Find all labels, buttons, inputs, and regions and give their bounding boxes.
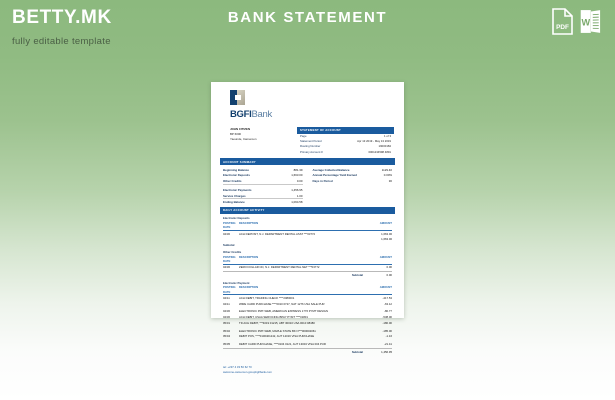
row-amount: -1.16 (368, 334, 392, 338)
row-amount: -185.00 (368, 329, 392, 333)
pdf-icon[interactable]: PDF (552, 8, 573, 35)
col-description: DESCRIPTION (239, 285, 368, 293)
daily-activity-body: Electronic Deposits POSTING DATE DESCRIP… (220, 216, 395, 354)
row-amount: 1,663.00 (368, 232, 392, 236)
statement-meta-label: Routing Number (300, 144, 320, 148)
subtotal-label: Subtotal (223, 273, 368, 277)
bank-name-light: Bank (252, 109, 272, 120)
table-row: 05/02 ELECTRONIC PMT-WEB, MAPLE STATE BK… (223, 328, 392, 334)
col-amount: AMOUNT (368, 285, 392, 293)
row-description: ELECTRONIC PMT-WEB, MAPLE STATE BK N***0… (239, 329, 368, 333)
activity-group-title: Electronic Payment (223, 281, 392, 285)
row-date: 05/04 (223, 334, 239, 338)
statement-meta-label: Statement Period (300, 139, 322, 143)
brand-subtitle: fully editable template (12, 36, 112, 47)
table-row: 05/04 DEBIT POS, ****0100401242, AUT 120… (223, 333, 392, 339)
summary-label: Days in Period (313, 179, 333, 183)
customer-line3: Yaounde, Cameroon (230, 137, 256, 142)
summary-label: Ending Balance (223, 200, 245, 204)
summary-value: 30 (389, 179, 392, 183)
statement-meta-label: Primary Account # (300, 150, 323, 154)
statement-meta-label: Page (300, 134, 307, 138)
bank-name-bold: BGFI (230, 109, 252, 120)
statement-meta-value: 1 of 3 (384, 134, 391, 138)
row-amount: -180.00 (368, 321, 392, 325)
row-amount: 0.00 (368, 265, 392, 269)
row-description: DEBIT POS, ****0100401242, AUT 12016 VIS… (239, 334, 368, 338)
summary-value: 881.39 (294, 168, 303, 172)
subtotal-row: Subtotal 1,456.95 (223, 348, 392, 355)
statement-box-header: STATEMENT OF ACCOUNT (297, 127, 394, 134)
col-amount: AMOUNT (368, 221, 392, 229)
table-row: 04/30 ACH DEPOSIT, N.J. DEPARTMENT RENTA… (223, 231, 392, 237)
summary-label: Other Credits (223, 179, 241, 183)
col-description: DESCRIPTION (239, 221, 368, 229)
row-description: ACH DEPOSIT, N.J. DEPARTMENT RENTAL ASST… (239, 232, 368, 236)
table-row: 04/11 ACH DEBIT, TRADING CHECK ****20800… (223, 295, 392, 301)
table-row: 04/30 ACH DEBIT, USAA SERVICING BPAY PYM… (223, 314, 392, 320)
row-amount: -417.53 (368, 296, 392, 300)
summary-label: Electronic Deposits (223, 173, 250, 177)
row-description: DEBIT CARD PURCHASE, ****0104 0121, AUT … (239, 342, 368, 346)
subtotal-left-label: Subtotal (223, 243, 392, 247)
table-row: 04/30 ZERO DOLLAR CD, N.J. DEPARTMENT RE… (223, 265, 392, 271)
summary-row: Service Charges 1.00 (223, 193, 303, 200)
svg-text:W: W (581, 18, 590, 28)
statement-meta-value: 19000184 (379, 144, 391, 148)
summary-value: 0.00% (384, 173, 392, 177)
account-summary-right: Average Collected Balance 1129.40 Annual… (313, 167, 393, 205)
statement-document: BGFIBank JOHN CITIZEN BP 6000 Yaounde, C… (211, 82, 404, 318)
subtotal-label: Subtotal (223, 350, 368, 354)
row-description: ACH DEBIT, USAA SERVICING BPAY PYMT ****… (239, 315, 368, 319)
col-posting-date: POSTING DATE (223, 221, 239, 229)
document-header-row: JOHN CITIZEN BP 6000 Yaounde, Cameroon S… (220, 127, 395, 154)
row-amount: -21.41 (368, 342, 392, 346)
summary-value: 1,456.95 (291, 188, 302, 192)
subtotal-value: 0.00 (368, 273, 392, 277)
row-date: 05/01 (223, 321, 239, 325)
customer-address: JOHN CITIZEN BP 6000 Yaounde, Cameroon (230, 127, 256, 154)
row-description: WIRE CARD PURCHASE ****0010 0727, NAT 12… (239, 302, 368, 306)
account-summary-header: ACCOUNT SUMMARY (220, 158, 395, 165)
row-date: 04/30 (223, 315, 239, 319)
activity-column-header: POSTING DATE DESCRIPTION AMOUNT (223, 221, 392, 231)
row-amount: -63.12 (368, 302, 392, 306)
table-row: 05/05 DEBIT CARD PURCHASE, ****0104 0121… (223, 341, 392, 347)
row-date: 05/02 (223, 329, 239, 333)
col-posting-date: POSTING DATE (223, 255, 239, 263)
bgfi-logo-mark (230, 90, 245, 105)
row-description: ELECTRONIC PMT-WEB, AMERICAN EXPRESS 177… (239, 309, 368, 313)
summary-value: 1129.40 (382, 168, 392, 172)
footer-website[interactable]: welcome-cameroun.groupbgfibank.com (223, 370, 392, 375)
daily-activity-header: DAILY ACCOUNT ACTIVITY (220, 207, 395, 214)
summary-value: 0.00 (297, 179, 303, 183)
summary-value: 1,064.58 (291, 200, 302, 204)
row-date: 04/11 (223, 296, 239, 300)
activity-group-title: Electronic Deposits (223, 216, 392, 220)
summary-label: Beginning Balance (223, 168, 249, 172)
statement-meta-value: Apr 13 2019 - May 13 2019 (357, 139, 391, 143)
svg-text:PDF: PDF (556, 24, 569, 31)
table-row: 04/30 ELECTRONIC PMT-WEB, AMERICAN EXPRE… (223, 309, 392, 315)
summary-row: Other Credits 0.00 (223, 178, 303, 185)
col-amount: AMOUNT (368, 255, 392, 263)
statement-meta-value: 0001234598 4891 (368, 150, 391, 154)
activity-column-header: POSTING DATE DESCRIPTION AMOUNT (223, 255, 392, 265)
row-date: 04/11 (223, 302, 239, 306)
row-amount: -80.77 (368, 309, 392, 313)
bank-logo: BGFIBank (230, 90, 395, 122)
summary-row: Days in Period 30 (313, 178, 393, 184)
summary-label: Electronic Payments (223, 188, 251, 192)
row-date: 04/30 (223, 232, 239, 236)
row-date: 04/30 (223, 309, 239, 313)
summary-label: Annual Percentage Yield Earned (313, 173, 357, 177)
activity-column-header: POSTING DATE DESCRIPTION AMOUNT (223, 285, 392, 295)
summary-label: Service Charges (223, 194, 246, 198)
summary-label: Average Collected Balance (313, 168, 350, 172)
page-title: BANK STATEMENT (0, 9, 615, 26)
subtotal-value: 1,456.95 (368, 350, 392, 354)
account-summary-left: Beginning Balance 881.39 Electronic Depo… (223, 167, 303, 205)
row-amount: -538.00 (368, 315, 392, 319)
subtotal-row: Subtotal 0.00 (223, 271, 392, 278)
row-description: TD ACH DEBIT, ***4019 01215, ABT 30010 U… (239, 321, 368, 325)
row-description: ZERO DOLLAR CD, N.J. DEPARTMENT RENTAL N… (239, 265, 368, 269)
table-row: 04/11 WIRE CARD PURCHASE ****0010 0727, … (223, 301, 392, 307)
summary-value: 1.00 (297, 194, 303, 198)
document-footer: tel: +237 4 33 50 62 70 welcome-cameroun… (220, 365, 395, 375)
row-date: 04/30 (223, 265, 239, 269)
summary-value: 1,663.00 (291, 173, 302, 177)
account-summary: Beginning Balance 881.39 Electronic Depo… (220, 165, 395, 205)
table-row: 05/01 TD ACH DEBIT, ***4019 01215, ABT 3… (223, 320, 392, 326)
statement-meta-row: Primary Account # 0001234598 4891 (297, 149, 394, 154)
bank-name: BGFIBank (230, 108, 395, 122)
col-posting-date: POSTING DATE (223, 285, 239, 293)
word-doc-icon[interactable]: W (580, 8, 601, 35)
group-running-total: 1,663.00 (223, 237, 392, 242)
col-description: DESCRIPTION (239, 255, 368, 263)
summary-row: Ending Balance 1,064.58 (223, 199, 303, 205)
row-date: 05/05 (223, 342, 239, 346)
activity-group-title: Other Credits (223, 250, 392, 254)
row-description: ACH DEBIT, TRADING CHECK ****2080001 (239, 296, 368, 300)
statement-of-account-box: STATEMENT OF ACCOUNT Page 1 of 3 Stateme… (297, 127, 394, 154)
format-badges: PDF W (552, 8, 601, 35)
